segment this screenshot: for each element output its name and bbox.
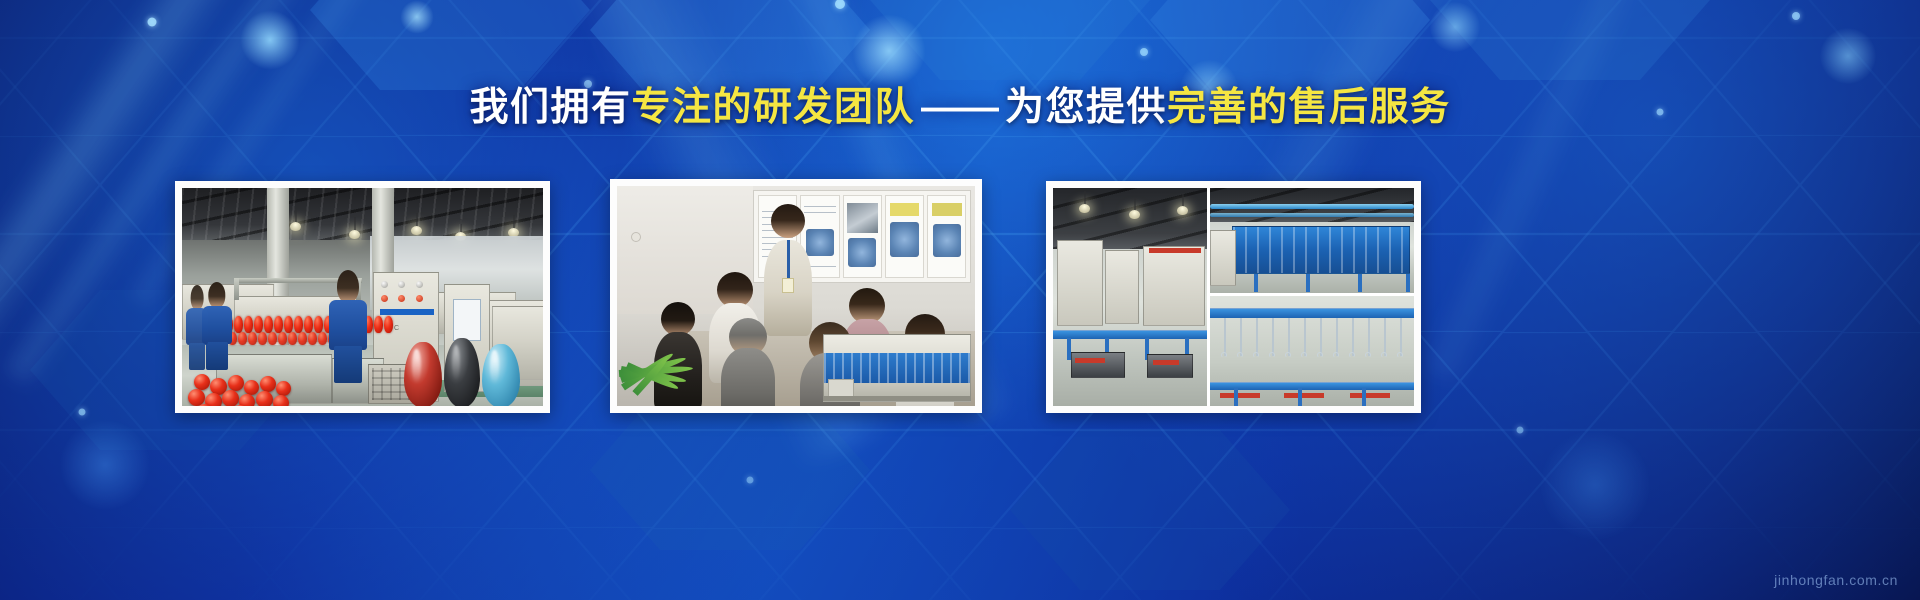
red-sphere-sample xyxy=(222,390,239,406)
workshop-pane-bottom-right xyxy=(1210,296,1414,406)
poster-sheet xyxy=(843,195,882,277)
ceiling-lamp-icon xyxy=(1129,210,1140,219)
factory-coating-line-photo[interactable]: DC xyxy=(175,181,550,413)
attendee-left xyxy=(661,302,695,340)
equipment-cabinet xyxy=(1143,246,1205,326)
wall-socket-icon xyxy=(631,232,641,242)
lanyard xyxy=(787,240,790,280)
red-sphere-sample xyxy=(194,374,210,390)
production-workshop-scene xyxy=(1053,188,1414,406)
curing-oven-tunnel xyxy=(1232,226,1410,274)
attendee-front xyxy=(729,318,767,356)
site-watermark: jinhongfan.com.cn xyxy=(1774,572,1898,588)
transport-cart xyxy=(1147,354,1193,378)
palm-leaf-overlay xyxy=(617,336,703,404)
production-equipment-overlay xyxy=(823,334,971,402)
id-badge xyxy=(782,278,794,293)
workshop-pane-top-right xyxy=(1210,188,1414,295)
red-sphere-sample xyxy=(276,381,291,396)
technical-meeting-scene xyxy=(617,186,975,406)
lower-conveyor-rail xyxy=(1210,382,1414,390)
oven-entry-cabinet xyxy=(1210,230,1236,286)
worker-center xyxy=(329,300,367,380)
poster-sheet xyxy=(927,195,966,277)
production-workshop-photo[interactable] xyxy=(1046,181,1421,413)
overhead-conveyor-rail xyxy=(1210,308,1414,318)
ceiling-lamp-icon xyxy=(290,222,301,231)
red-sphere-sample xyxy=(273,395,289,406)
workshop-pane-left xyxy=(1053,188,1208,406)
promo-banner: 我们拥有专注的研发团队——为您提供完善的售后服务 xyxy=(0,0,1920,600)
glass-vase-black xyxy=(444,338,480,406)
transport-cart xyxy=(1071,352,1125,378)
equipment-cabinet xyxy=(1057,240,1103,326)
headline-segment-4: 完善的售后服务 xyxy=(1167,86,1451,129)
ceiling-lamp-icon xyxy=(411,226,422,235)
headline-segment-1: 我们拥有 xyxy=(469,86,631,129)
ceiling-lamp-icon xyxy=(349,230,360,239)
glass-vase-cyan xyxy=(482,344,520,406)
equipment-cabinet xyxy=(1105,250,1139,324)
glass-vase-red xyxy=(404,342,442,406)
headline-segment-2: 专注的研发团队 xyxy=(631,86,915,129)
poster-sheet xyxy=(885,195,924,277)
red-sphere-sample xyxy=(228,375,244,391)
worker-far-left xyxy=(186,308,208,368)
banner-headline: 我们拥有专注的研发团队——为您提供完善的售后服务 xyxy=(0,86,1920,130)
booth-post xyxy=(234,278,239,300)
attendee-woman-glasses xyxy=(849,288,885,328)
headline-dash: —— xyxy=(915,86,1005,129)
red-sphere-sample xyxy=(244,380,259,395)
technical-meeting-photo[interactable] xyxy=(610,179,982,413)
ceiling-lamp-icon xyxy=(1079,204,1090,213)
headline-segment-3: 为您提供 xyxy=(1005,86,1167,129)
red-sphere-sample xyxy=(256,391,273,406)
workshop-roof-trusses xyxy=(182,188,543,240)
ceiling-lamp-icon xyxy=(1177,206,1188,215)
red-accent-bar xyxy=(1149,248,1201,253)
attendee-center xyxy=(717,272,753,312)
red-sphere-sample xyxy=(260,376,276,392)
factory-coating-line-scene: DC xyxy=(182,188,543,406)
